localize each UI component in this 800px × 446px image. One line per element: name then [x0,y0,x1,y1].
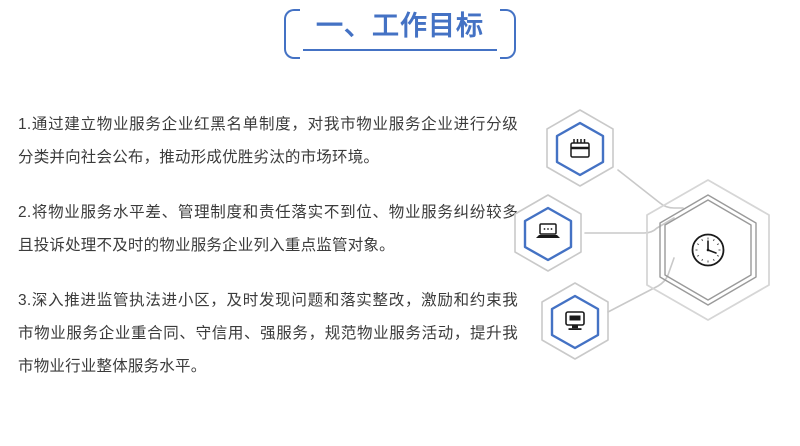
monitor-inner-hexagon [552,296,598,348]
body-copy: 1.通过建立物业服务企业红黑名单制度，对我市物业服务企业进行分级分类并向社会公布… [18,108,518,383]
paragraph-3: 3.深入推进监管执法进小区，及时发现问题和落实整改，激励和约束我市物业服务企业重… [18,284,518,383]
connector-monitor-to-clock [608,258,674,312]
title-underline [303,49,497,51]
title-left-bracket-icon [284,9,300,59]
paragraph-2: 2.将物业服务水平差、管理制度和责任落实不到位、物业服务纠纷较多且投诉处理不及时… [18,196,518,262]
page-title: 一、工作目标 [302,8,498,44]
hex-node-clock[interactable] [647,180,769,320]
clock-icon [693,235,724,266]
hexagon-network-diagram [500,90,800,400]
paragraph-1: 1.通过建立物业服务企业红黑名单制度，对我市物业服务企业进行分级分类并向社会公布… [18,108,518,174]
laptop-icon [536,224,560,238]
page-title-block: 一、工作目标 [0,6,800,64]
title-inner: 一、工作目标 [284,6,516,64]
hex-node-laptop[interactable] [515,195,581,271]
calendar-icon [571,139,589,157]
monitor-icon [566,312,584,330]
title-right-bracket-icon [500,9,516,59]
connector-calendar-to-clock [618,170,683,208]
hex-node-monitor[interactable] [542,283,608,359]
hex-node-calendar[interactable] [547,110,613,186]
